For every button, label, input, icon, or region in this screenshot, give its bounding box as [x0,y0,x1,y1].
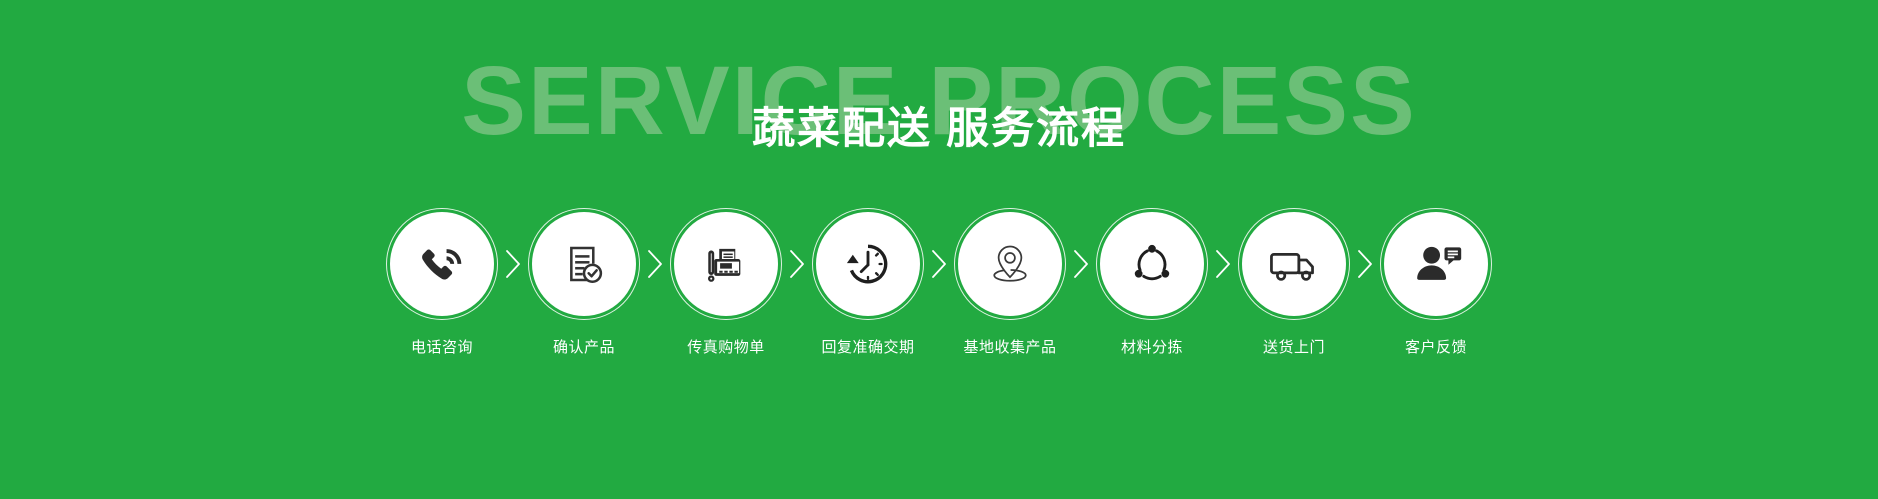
step-7-circle[interactable] [1242,212,1346,316]
document-check-icon [557,237,611,291]
step-6-label: 材料分拣 [1121,336,1183,357]
step-2-circle[interactable] [532,212,636,316]
step-separator-7 [1348,212,1382,316]
step-8-label: 客户反馈 [1405,336,1467,357]
process-step-4[interactable]: 回复准确交期 [814,212,922,357]
step-separator-5 [1064,212,1098,316]
step-1-circle[interactable] [390,212,494,316]
step-separator-4 [922,212,956,316]
step-3-circle[interactable] [674,212,778,316]
telephone-icon [415,237,469,291]
step-8-circle[interactable] [1384,212,1488,316]
step-separator-1 [496,212,530,316]
step-4-label: 回复准确交期 [821,336,914,357]
process-step-6[interactable]: 材料分拣 [1098,212,1206,357]
step-7-label: 送货上门 [1263,336,1325,357]
heading-area: SERVICE PROCESS 蔬菜配送 服务流程 [0,0,1878,200]
sorting-nodes-icon [1125,237,1179,291]
step-5-circle[interactable] [958,212,1062,316]
step-separator-2 [638,212,672,316]
user-feedback-icon [1408,236,1464,292]
step-6-circle[interactable] [1100,212,1204,316]
process-steps: 电话咨询 [0,212,1878,357]
process-step-8[interactable]: 客户反馈 [1382,212,1490,357]
step-1-label: 电话咨询 [411,336,473,357]
step-3-label: 传真购物单 [687,336,765,357]
step-4-circle[interactable] [816,212,920,316]
delivery-truck-icon [1265,235,1323,293]
step-2-label: 确认产品 [553,336,615,357]
step-separator-3 [780,212,814,316]
process-step-5[interactable]: 基地收集产品 [956,212,1064,357]
step-5-label: 基地收集产品 [963,336,1056,357]
process-step-7[interactable]: 送货上门 [1240,212,1348,357]
clock-arrow-icon [841,237,895,291]
map-pin-icon [982,236,1038,292]
step-separator-6 [1206,212,1240,316]
page-title: 蔬菜配送 服务流程 [0,108,1878,151]
process-step-2[interactable]: 确认产品 [530,212,638,357]
process-step-3[interactable]: 传真购物单 [672,212,780,357]
fax-machine-icon [699,237,753,291]
service-process-banner: SERVICE PROCESS 蔬菜配送 服务流程 电话咨询 [0,0,1878,499]
process-step-1[interactable]: 电话咨询 [388,212,496,357]
